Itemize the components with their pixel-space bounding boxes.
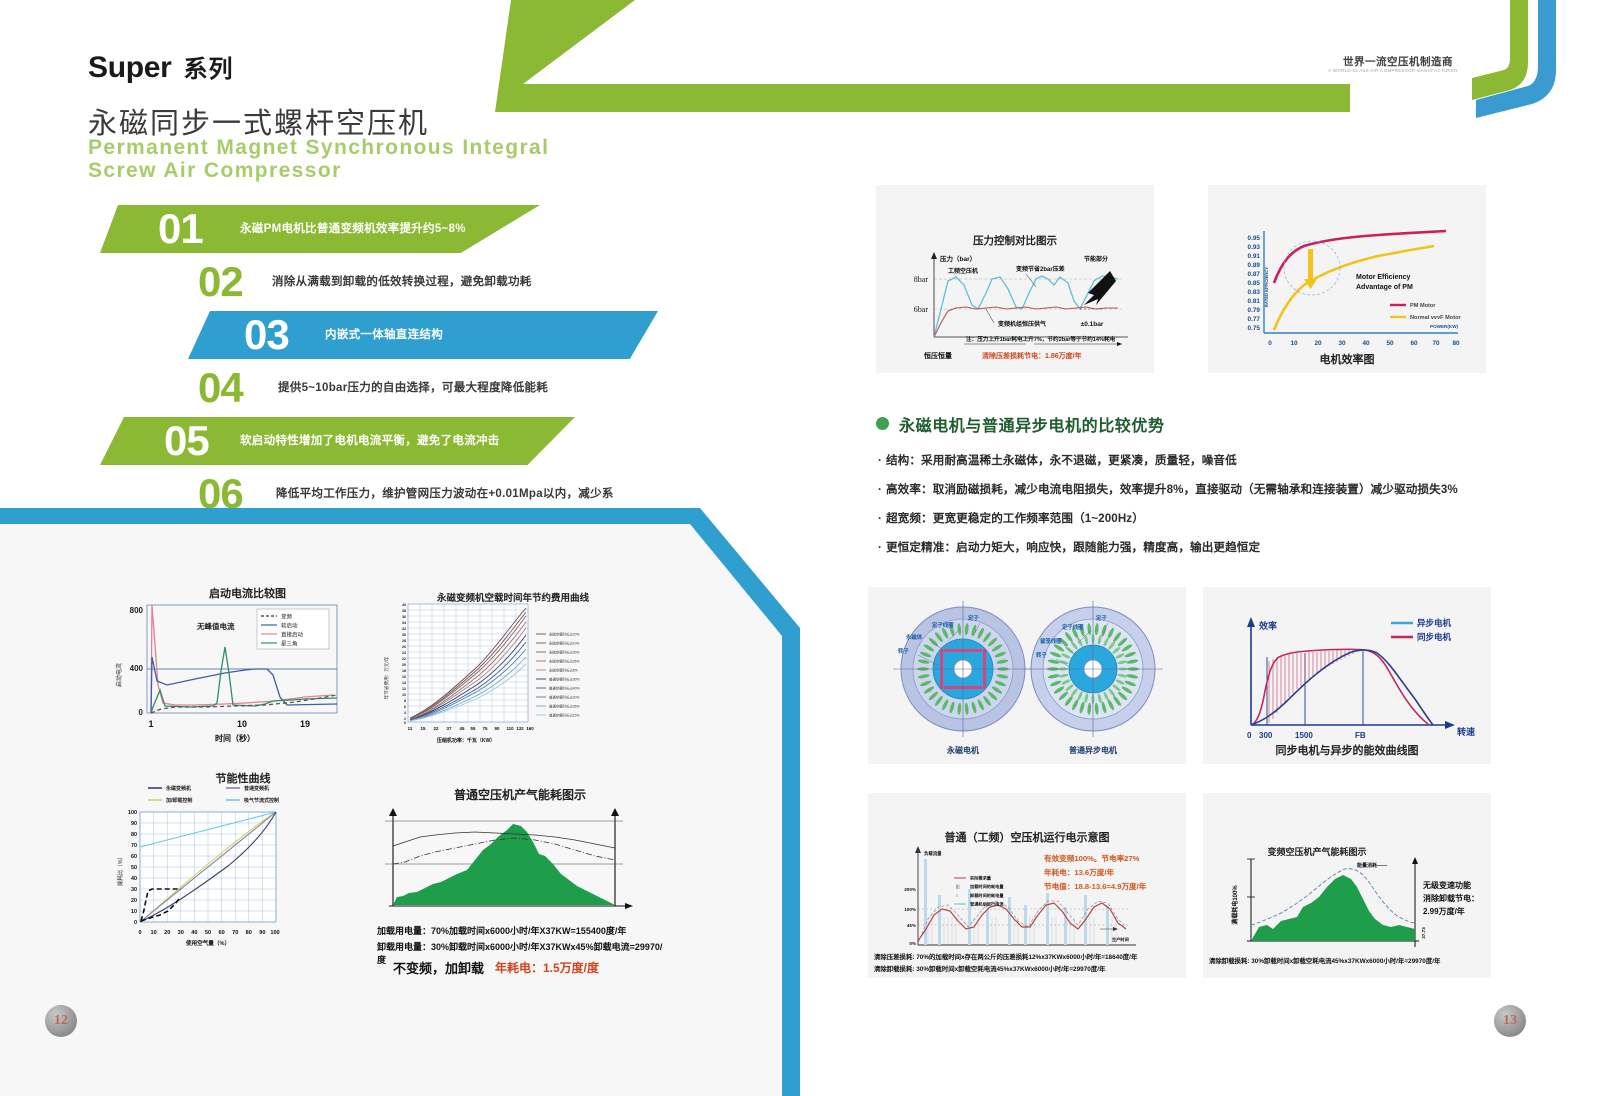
svg-text:200%: 200% [904, 887, 916, 892]
svg-text:转子: 转子 [898, 647, 909, 655]
svg-text:8: 8 [404, 699, 406, 703]
svg-text:18: 18 [402, 669, 406, 673]
svg-text:45%: 45% [907, 923, 916, 928]
svg-text:永磁空载时长占20%: 永磁空载时长占20% [549, 632, 580, 637]
svg-text:20: 20 [402, 663, 406, 667]
brochure-page: 世界一流空压机制造商 A WORLD-CLASS AIR COMPRESSOR … [0, 0, 1600, 1096]
svg-text:80: 80 [246, 930, 252, 936]
svg-text:70: 70 [131, 843, 137, 849]
chart-motor-efficiency-title: 电机效率图 [1208, 351, 1486, 367]
feature-item-01: 01 永磁PM电机比普通变频机效率提升约5~8% [100, 205, 550, 253]
brand-title: Super [88, 51, 172, 84]
svg-text:变频: 变频 [281, 613, 293, 621]
svg-text:6: 6 [404, 705, 406, 709]
caption-async-motor: 普通异步电机 [1069, 745, 1117, 755]
advantages-list: 结构：采用耐高温稀土永磁体，永不退磁，更紧凑，质量轻，噪音低 高效率：取消励磁损… [878, 452, 1518, 568]
svg-text:变频节省2bar压差: 变频节省2bar压差 [1016, 265, 1065, 273]
svg-text:75: 75 [483, 726, 488, 731]
svg-text:永磁空载时长占30%: 永磁空载时长占30% [549, 650, 580, 655]
feature-text-03: 内嵌式一体轴直连结构 [325, 311, 443, 359]
svg-text:异步电机: 异步电机 [1417, 618, 1452, 628]
svg-text:16: 16 [402, 675, 406, 679]
chart-vfd-note: 清除卸载损耗: 30%卸载时间x卸载空耗电流45%x37KWx6000小时/年=… [1209, 956, 1440, 965]
svg-text:使用空气量（%）: 使用空气量（%） [185, 939, 230, 946]
caption-pm-motor: 永磁电机 [946, 745, 979, 755]
chart-start-current-title: 启动电流比较图 [105, 585, 390, 601]
feature-number-01: 01 [158, 206, 203, 252]
advantage-item-1: 结构：采用耐高温稀土永磁体，永不退磁，更紧凑，质量轻，噪音低 [878, 452, 1518, 468]
svg-text:无峰值电流: 无峰值电流 [196, 621, 235, 631]
svg-text:0.81: 0.81 [1248, 298, 1261, 305]
svg-text:0.83: 0.83 [1248, 289, 1261, 296]
svg-text:实际需求量: 实际需求量 [970, 875, 992, 882]
section-bullet-icon [876, 417, 889, 430]
page-title: Super系列 [88, 49, 234, 85]
svg-text:普通空载时长占35%: 普通空载时长占35% [549, 704, 580, 709]
svg-text:效率: 效率 [1259, 620, 1277, 631]
svg-text:300: 300 [1259, 731, 1273, 740]
svg-text:50: 50 [1386, 340, 1394, 347]
svg-text:加/卸载控制: 加/卸载控制 [165, 797, 192, 804]
svg-text:32: 32 [402, 627, 406, 631]
svg-text:变频机组恒压供气: 变频机组恒压供气 [998, 320, 1046, 328]
svg-text:普通变频机: 普通变频机 [244, 785, 269, 792]
chart-pressure-note-constant: 恒压恒量 [924, 351, 952, 361]
chart-normal-footer-black: 不变频，加卸载 [393, 958, 484, 977]
svg-text:400: 400 [130, 664, 144, 673]
svg-text:永磁空载时长占35%: 永磁空载时长占35% [549, 659, 580, 664]
card-sync-vs-async: 效率 转速 03001500FB [1203, 587, 1491, 764]
svg-text:160: 160 [526, 726, 534, 731]
card-normal-freq-running: 普通（工频）空压机运行电示意图 负载流量 200%100%45%0% [868, 793, 1186, 978]
svg-text:45: 45 [460, 726, 465, 731]
svg-text:80: 80 [131, 832, 137, 838]
svg-text:14: 14 [402, 681, 406, 685]
svg-text:20: 20 [131, 898, 137, 904]
svg-text:0.77: 0.77 [1248, 316, 1261, 323]
feature-text-05: 软启动特性增加了电机电流平衡，避免了电流冲击 [240, 417, 500, 465]
svg-text:90: 90 [495, 726, 500, 731]
chart-vfd-side-text: 无级变速功能 消除卸载节电： 2.99万度/年 [1423, 879, 1493, 918]
svg-text:生产时间: 生产时间 [1112, 936, 1129, 943]
svg-text:工频空压机: 工频空压机 [948, 267, 978, 275]
svg-text:6bar: 6bar [914, 305, 929, 314]
svg-text:压力（bar）: 压力（bar） [940, 254, 976, 263]
svg-text:110: 110 [506, 726, 514, 731]
svg-text:60: 60 [1410, 340, 1418, 347]
feature-number-02: 02 [198, 259, 243, 305]
svg-text:永磁空载时长占5%: 永磁空载时长占5% [549, 668, 578, 673]
svg-text:定子: 定子 [968, 614, 979, 622]
page-number-left: 12 [45, 1005, 77, 1037]
svg-text:PM Motor: PM Motor [1410, 303, 1436, 309]
svg-text:0.79: 0.79 [1248, 307, 1261, 314]
svg-text:34: 34 [402, 621, 406, 625]
svg-text:POWER(KW): POWER(KW) [1430, 324, 1459, 329]
feature-text-04: 提供5~10bar压力的自由选择，可最大程度降低能耗 [278, 364, 548, 412]
svg-text:0: 0 [139, 708, 144, 717]
svg-text:满载耗电100%: 满载耗电100% [1231, 885, 1239, 925]
feature-item-05: 05 软启动特性增加了电机电流平衡，避免了电流冲击 [100, 417, 600, 465]
svg-text:37.73: 37.73 [1421, 927, 1426, 939]
svg-text:10: 10 [237, 719, 247, 729]
svg-text:26: 26 [402, 645, 406, 649]
chart-normal-compressor-title: 普通空压机产气能耗图示 [375, 786, 665, 803]
product-name-en-line1: Permanent Magnet Synchronous Integral [88, 136, 608, 159]
feature-text-02: 消除从满载到卸载的低效转换过程，避免卸载功耗 [272, 258, 532, 306]
chart-vfd-side-line1: 无级变速功能 [1423, 879, 1493, 892]
svg-text:星三角: 星三角 [281, 640, 298, 648]
page-number-right: 13 [1494, 1005, 1526, 1037]
svg-text:转速: 转速 [1457, 726, 1475, 737]
svg-text:19: 19 [300, 719, 310, 729]
svg-text:RATED EFFICIENCY: RATED EFFICIENCY [1264, 267, 1269, 307]
product-name-en: Permanent Magnet Synchronous Integral Sc… [88, 136, 608, 182]
logo-slogan-cn: 世界一流空压机制造商 [1328, 54, 1468, 69]
advantage-item-4: 更恒定精准：启动力矩大，响应快，跟随能力强，精度高，输出更趋恒定 [878, 539, 1518, 555]
feature-item-02: 02 消除从满载到卸载的低效转换过程，避免卸载功耗 [100, 258, 560, 306]
svg-text:15: 15 [421, 726, 426, 731]
svg-text:55: 55 [471, 726, 476, 731]
svg-text:|||: ||| [956, 884, 960, 889]
svg-text:启动电流: 启动电流 [115, 663, 123, 687]
svg-text:Motor Efficiency: Motor Efficiency [1356, 274, 1411, 281]
advantage-item-3: 超宽频：更宽更稳定的工作频率范围（1~200Hz） [878, 510, 1518, 526]
chart-freq-highlight-2: 年耗电：13.6万度/年 [1044, 867, 1114, 878]
chart-freq-highlight-3: 节电值：18.8-13.6=4.9万度/年 [1044, 881, 1146, 892]
svg-text:50: 50 [131, 865, 137, 871]
svg-text:0: 0 [1268, 340, 1272, 347]
svg-text:负载流量: 负载流量 [924, 850, 942, 857]
svg-text:22: 22 [434, 726, 439, 731]
svg-text:4: 4 [404, 711, 406, 715]
logo-slogan-en: A WORLD-CLASS AIR COMPRESSOR MANUFACTURE… [1318, 68, 1468, 73]
svg-text:0: 0 [134, 920, 137, 926]
svg-text:10: 10 [402, 693, 406, 697]
svg-text:1500: 1500 [1295, 731, 1313, 740]
svg-text:0.75: 0.75 [1248, 325, 1261, 332]
svg-text:0.93: 0.93 [1248, 244, 1261, 251]
svg-text:卸载时间的耗电量: 卸载时间的耗电量 [970, 892, 1004, 899]
svg-text:70: 70 [1432, 340, 1440, 347]
svg-text:30: 30 [402, 633, 406, 637]
feature-number-04: 04 [198, 365, 243, 411]
chart-saving-cost-title: 永磁变频机空载时间年节约费用曲线 [378, 590, 648, 604]
chart-normal-compressor-energy: 普通空压机产气能耗图示 加载用电量：70%加载时间x6000小时/年X37KW=… [375, 782, 671, 967]
svg-text:Advantage of PM: Advantage of PM [1356, 284, 1413, 291]
svg-text:0.85: 0.85 [1248, 280, 1261, 287]
svg-text:8bar: 8bar [914, 275, 929, 284]
chart-freq-highlight-1: 有效变频100%。节电率27% [1044, 853, 1139, 864]
chart-vfd-side-line2: 消除卸载节电： [1423, 892, 1493, 905]
chart-normal-note-1: 加载用电量：70%加载时间x6000小时/年X37KW=155400度/年 [377, 924, 626, 937]
svg-text:37: 37 [447, 726, 452, 731]
svg-text:100: 100 [270, 930, 279, 936]
svg-text:28: 28 [402, 639, 406, 643]
svg-text:普通空载时长占20%: 普通空载时长占20% [549, 695, 580, 700]
svg-text:1: 1 [148, 719, 153, 729]
card-motor-cross-section: 定子线圈 永磁体 转子 定子 永磁电机 定子线圈 鼠笼线圈 [868, 587, 1186, 764]
svg-text:50: 50 [205, 930, 211, 936]
top-green-banner [495, 0, 1350, 112]
svg-text:0.89: 0.89 [1248, 262, 1261, 269]
svg-text:100: 100 [128, 810, 137, 816]
svg-text:90: 90 [131, 821, 137, 827]
svg-text:Normal vvvF Motor: Normal vvvF Motor [1410, 315, 1461, 321]
chart-freq-note-2: 清除卸载损耗: 30%卸载时间x卸载空耗电流45%x37KWx6000小时/年=… [874, 964, 1105, 973]
chart-energy-saving-title: 节能性曲线 [108, 770, 378, 786]
svg-text:20: 20 [1314, 340, 1322, 347]
svg-text:0.95: 0.95 [1248, 235, 1261, 242]
svg-text:吸气节流式控制: 吸气节流式控制 [244, 797, 279, 804]
chart-normal-freq-title: 普通（工频）空压机运行电示意图 [868, 829, 1186, 845]
svg-text:40: 40 [1362, 340, 1370, 347]
svg-text:22: 22 [402, 657, 406, 661]
chart-saving-cost-curve: 永磁变频机空载时间年节约费用曲线 年节省费用：万元/年 [378, 590, 653, 765]
svg-text:30: 30 [178, 930, 184, 936]
svg-text:0.87: 0.87 [1248, 271, 1261, 278]
chart-start-current: 启动电流比较图 800 400 0 启动电流 无峰值电流 变频 软启动 直接启动… [105, 585, 390, 765]
svg-text:100%: 100% [904, 907, 916, 912]
svg-text:永磁体: 永磁体 [905, 633, 923, 641]
card-pressure-control: 压力控制对比图示 压力（bar） 8bar 6bar 工频空压机 变频节省2ba… [876, 185, 1154, 373]
svg-text:0: 0 [1247, 731, 1252, 740]
svg-text:12: 12 [402, 687, 406, 691]
advantage-item-2: 高效率：取消励磁损耗，减少电流电阻损失，效率提升8%，直接驱动（无需轴承和连接装… [878, 481, 1518, 497]
svg-text:软启动: 软启动 [281, 622, 298, 630]
svg-text:10: 10 [150, 930, 156, 936]
chart-freq-note-1: 清除压差损耗: 70%的加载时间x存在两公斤的压差损耗12%x37KWx6000… [874, 952, 1137, 961]
svg-text:普通空载时长占15%: 普通空载时长占15% [549, 713, 580, 718]
svg-text:普通空载时长占40%: 普通空载时长占40% [549, 686, 580, 691]
svg-text:注：压力上升1bar耗电上升7%，节约2bar等于节约14%: 注：压力上升1bar耗电上升7%，节约2bar等于节约14%耗电 [966, 335, 1116, 343]
svg-text:≡: ≡ [956, 893, 959, 898]
svg-text:定子线圈: 定子线圈 [1062, 623, 1084, 631]
svg-text:30: 30 [131, 887, 137, 893]
feature-number-05: 05 [164, 418, 209, 464]
svg-text:转子: 转子 [1036, 651, 1047, 659]
svg-text:30: 30 [1338, 340, 1346, 347]
feature-number-03: 03 [244, 312, 289, 358]
svg-text:132: 132 [516, 726, 524, 731]
feature-item-04: 04 提供5~10bar压力的自由选择，可最大程度降低能耗 [100, 364, 570, 412]
svg-text:时间（秒）: 时间（秒） [215, 733, 255, 743]
svg-text:普通空载时长占30%: 普通空载时长占30% [549, 677, 580, 682]
svg-text:鼠笼线圈: 鼠笼线圈 [1040, 637, 1062, 645]
svg-text:能耗比（%）: 能耗比（%） [116, 854, 124, 886]
svg-text:0: 0 [404, 721, 406, 725]
chart-vfd-side-line3: 2.99万度/年 [1423, 905, 1493, 918]
brand-series: 系列 [184, 56, 234, 83]
svg-text:定子线圈: 定子线圈 [932, 621, 954, 629]
card-vfd-compressor-energy: 变频空压机产气能耗图示 能量消耗—— 满载耗电100% 37.73 无级变速功能… [1203, 793, 1491, 978]
svg-text:直接启动: 直接启动 [281, 631, 304, 639]
svg-text:40: 40 [191, 930, 197, 936]
svg-text:80: 80 [1452, 340, 1460, 347]
svg-text:11: 11 [408, 726, 413, 731]
chart-pressure-title: 压力控制对比图示 [876, 233, 1154, 248]
svg-text:普通机组运行电流: 普通机组运行电流 [970, 901, 1004, 908]
svg-text:38: 38 [402, 609, 406, 613]
svg-text:压缩机功率：千瓦（KW）: 压缩机功率：千瓦（KW） [437, 737, 495, 744]
svg-text:70: 70 [232, 930, 238, 936]
svg-text:0: 0 [138, 930, 141, 936]
svg-text:节能部分: 节能部分 [1084, 255, 1108, 263]
svg-text:800: 800 [130, 606, 144, 615]
feature-item-03: 03 内嵌式一体轴直连结构 [100, 311, 660, 359]
card-motor-efficiency: 0.950.930.91 0.890.870.85 0.830.810.79 0… [1208, 185, 1486, 373]
svg-text:同步电机: 同步电机 [1417, 632, 1452, 642]
svg-text:±0.1bar: ±0.1bar [1081, 321, 1104, 328]
svg-text:60: 60 [218, 930, 224, 936]
svg-text:10: 10 [131, 909, 137, 915]
svg-text:20: 20 [164, 930, 170, 936]
chart-sync-async-title: 同步电机与异步的能效曲线图 [1203, 742, 1491, 758]
svg-text:60: 60 [131, 854, 137, 860]
chart-normal-footer-red: 年耗电：1.5万度/度 [495, 959, 599, 976]
svg-text:24: 24 [402, 651, 406, 655]
chart-energy-saving-curve: 节能性曲线 永磁变频机 普通变频机 加/卸载控制 吸气节流式控制 [108, 770, 388, 960]
chart-vfd-annotation: 能量消耗—— [1357, 862, 1387, 869]
svg-text:36: 36 [402, 615, 406, 619]
svg-text:40: 40 [131, 876, 137, 882]
svg-text:年节省费用：万元/年: 年节省费用：万元/年 [383, 656, 390, 699]
svg-text:永磁变频机: 永磁变频机 [165, 785, 191, 792]
svg-text:FB: FB [1355, 731, 1366, 740]
svg-text:10: 10 [1290, 340, 1298, 347]
svg-text:加载时间的耗电量: 加载时间的耗电量 [969, 883, 1004, 890]
product-name-en-line2: Screw Air Compressor [88, 159, 608, 182]
svg-text:90: 90 [259, 930, 265, 936]
chart-pressure-highlight: 清除压差损耗节电：1.86万度/年 [982, 351, 1082, 361]
svg-text:0%: 0% [909, 941, 916, 946]
advantages-heading: 永磁电机与普通异步电机的比较优势 [899, 412, 1165, 436]
svg-text:0.91: 0.91 [1248, 253, 1261, 260]
svg-text:永磁空载时长占10%: 永磁空载时长占10% [549, 641, 580, 646]
feature-text-01: 永磁PM电机比普通变频机效率提升约5~8% [240, 205, 466, 253]
svg-text:定子: 定子 [1096, 614, 1107, 622]
